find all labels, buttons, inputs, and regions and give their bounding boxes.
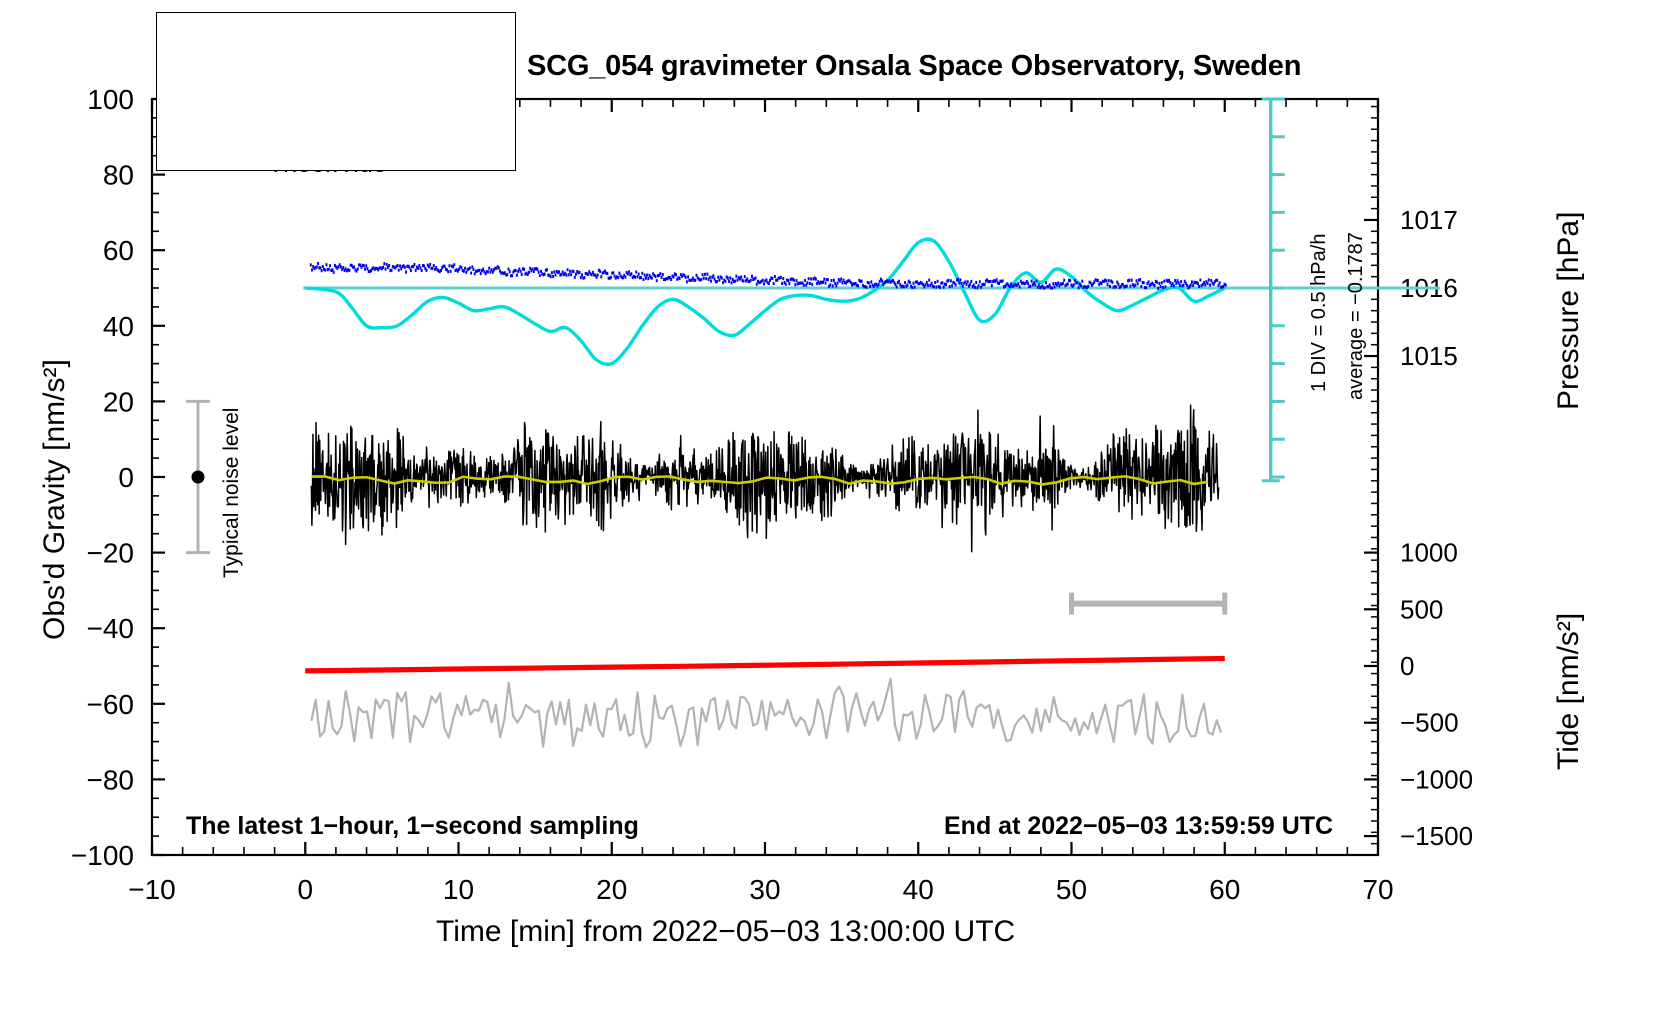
average-label: average = −0.1787 (1345, 232, 1368, 400)
tide-tick-label: −1500 (1400, 821, 1473, 851)
y-tick-label: 100 (87, 84, 134, 115)
legend (156, 12, 516, 171)
tide-tick-label: −1000 (1400, 764, 1473, 794)
noise-bar-center-dot (191, 471, 204, 484)
series-last-10-min (311, 679, 1221, 747)
x-tick-label: 20 (596, 874, 627, 905)
tide-tick-label: 1000 (1400, 538, 1458, 568)
pressure-tick-label: 1017 (1400, 205, 1458, 235)
y-tick-label: 80 (103, 160, 134, 191)
y-axis-label-tide: Tide [nm/s²] (1552, 613, 1586, 770)
x-axis-label: Time [min] from 2022−05−03 13:00:00 UTC (436, 915, 1015, 949)
y-tick-label: −40 (87, 613, 135, 644)
noise-level-label: Typical noise level (220, 408, 244, 578)
tide-tick-label: −500 (1400, 708, 1459, 738)
y-tick-label: −20 (87, 538, 135, 569)
y-tick-label: 0 (118, 462, 134, 493)
div-scale-label: 1 DIV = 0.5 hPa/h (1308, 234, 1331, 392)
tide-tick-label: 0 (1400, 651, 1414, 681)
footer-left: The latest 1−hour, 1−second sampling (186, 812, 639, 841)
x-tick-label: 60 (1209, 874, 1240, 905)
series-dpdt-lowpassed (305, 239, 1225, 364)
chart-title: SCG_054 gravimeter Onsala Space Observat… (527, 50, 1301, 83)
y-tick-label: 60 (103, 235, 134, 266)
x-tick-label: 50 (1056, 874, 1087, 905)
x-tick-label: −10 (128, 874, 176, 905)
x-tick-label: 70 (1362, 874, 1393, 905)
y-tick-label: 20 (103, 386, 134, 417)
y-tick-label: −100 (71, 840, 134, 871)
tide-tick-label: 500 (1400, 594, 1443, 624)
x-tick-label: 10 (443, 874, 474, 905)
y-tick-label: −80 (87, 764, 135, 795)
y-axis-label-pressure: Pressure [hPa] (1552, 212, 1586, 410)
y-tick-label: 40 (103, 311, 134, 342)
y-tick-label: −60 (87, 689, 135, 720)
y-axis-label-left: Obs'd Gravity [nm/s²] (38, 359, 72, 640)
pressure-tick-label: 1015 (1400, 341, 1458, 371)
footer-right: End at 2022−05−03 13:59:59 UTC (944, 812, 1333, 841)
series-theor-tide (305, 658, 1225, 670)
x-tick-label: 0 (297, 874, 313, 905)
series-pressure (310, 263, 1227, 288)
x-tick-label: 30 (749, 874, 780, 905)
x-tick-label: 40 (903, 874, 934, 905)
